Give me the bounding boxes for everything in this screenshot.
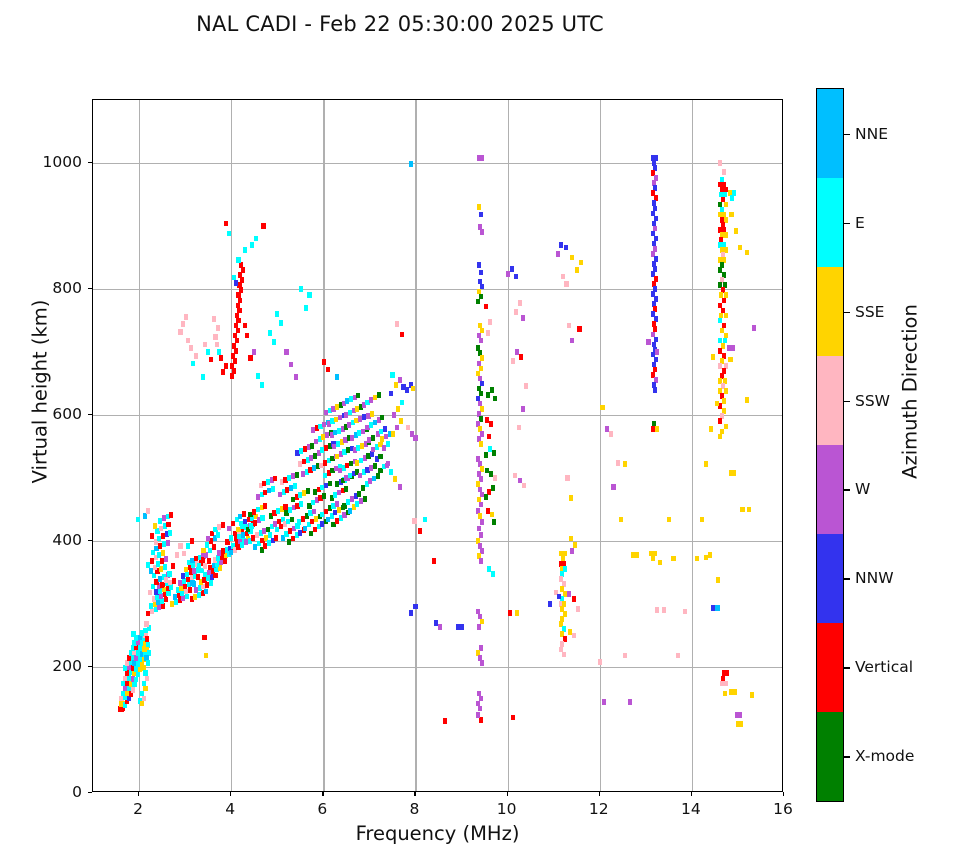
y-tick bbox=[88, 288, 92, 289]
echo-point bbox=[729, 212, 733, 218]
echo-point bbox=[227, 231, 231, 237]
echo-point bbox=[275, 311, 279, 317]
y-tick-label: 800 bbox=[22, 279, 82, 297]
echo-point bbox=[492, 450, 496, 456]
echo-point bbox=[243, 323, 247, 329]
colorbar-tick bbox=[844, 578, 850, 579]
x-tick bbox=[691, 792, 692, 796]
echo-point bbox=[252, 349, 256, 355]
echo-point bbox=[283, 504, 287, 510]
x-axis-label: Frequency (MHz) bbox=[92, 822, 783, 845]
x-tick-label: 2 bbox=[133, 800, 143, 818]
echo-point bbox=[651, 426, 655, 432]
echo-point bbox=[400, 332, 404, 338]
echo-point bbox=[479, 558, 483, 564]
echo-point bbox=[720, 681, 724, 687]
echo-point bbox=[569, 536, 573, 542]
colorbar-segment-nne bbox=[817, 89, 843, 178]
colorbar-label-ssw: SSW bbox=[855, 392, 890, 410]
x-tick bbox=[414, 792, 415, 796]
echo-point bbox=[168, 530, 172, 536]
colorbar-tick bbox=[844, 756, 850, 757]
echo-point bbox=[237, 308, 241, 314]
echo-point bbox=[658, 560, 662, 566]
y-tick bbox=[88, 666, 92, 667]
echo-point bbox=[209, 357, 213, 363]
echo-point bbox=[655, 426, 659, 432]
y-tick bbox=[88, 792, 92, 793]
echo-point bbox=[718, 160, 722, 166]
echo-point bbox=[363, 496, 367, 502]
echo-point bbox=[295, 472, 299, 478]
echo-point bbox=[655, 349, 659, 355]
echo-point bbox=[186, 338, 190, 344]
colorbar-tick bbox=[844, 667, 850, 668]
echo-point bbox=[722, 398, 726, 404]
echo-point bbox=[722, 169, 726, 175]
echo-point bbox=[724, 681, 728, 687]
echo-point bbox=[140, 701, 144, 707]
echo-point bbox=[518, 478, 522, 484]
echo-point bbox=[166, 540, 170, 546]
echo-point bbox=[722, 298, 726, 304]
echo-point bbox=[260, 382, 264, 388]
colorbar-label-x-mode: X-mode bbox=[855, 747, 914, 765]
echo-point bbox=[395, 425, 399, 431]
echo-point bbox=[146, 660, 150, 666]
echo-point bbox=[160, 582, 164, 588]
echo-point bbox=[734, 228, 738, 234]
echo-point bbox=[745, 250, 749, 256]
x-tick-label: 14 bbox=[681, 800, 701, 818]
echo-point bbox=[169, 512, 173, 518]
echo-point bbox=[256, 373, 260, 379]
echo-point bbox=[619, 517, 623, 523]
colorbar-label-nnw: NNW bbox=[855, 569, 894, 587]
echo-point bbox=[655, 607, 659, 613]
echo-point bbox=[711, 605, 715, 611]
echo-point bbox=[518, 300, 522, 306]
echo-point bbox=[432, 558, 436, 564]
echo-point bbox=[708, 552, 712, 558]
echo-point bbox=[477, 262, 481, 268]
echo-point bbox=[671, 556, 675, 562]
echo-point bbox=[389, 391, 393, 397]
x-tick bbox=[322, 792, 323, 796]
echo-point bbox=[488, 319, 492, 325]
x-tick-label: 4 bbox=[225, 800, 235, 818]
echo-point bbox=[235, 313, 239, 319]
colorbar-label-sse: SSE bbox=[855, 303, 884, 321]
echo-point bbox=[307, 292, 311, 298]
echo-point bbox=[570, 338, 574, 344]
echo-point bbox=[396, 406, 400, 412]
echo-point bbox=[479, 717, 483, 723]
echo-point bbox=[234, 348, 238, 354]
echo-point bbox=[548, 601, 552, 607]
y-tick-label: 600 bbox=[22, 405, 82, 423]
x-tick-label: 12 bbox=[589, 800, 609, 818]
echo-point bbox=[293, 483, 297, 489]
echo-point bbox=[163, 564, 167, 570]
echo-point bbox=[383, 426, 387, 432]
echo-point bbox=[399, 418, 403, 424]
colorbar-tick bbox=[844, 223, 850, 224]
plot-area bbox=[92, 99, 783, 792]
echo-point bbox=[725, 670, 729, 676]
echo-point bbox=[393, 476, 397, 482]
echo-point bbox=[514, 274, 518, 280]
echo-point bbox=[299, 286, 303, 292]
echo-point bbox=[196, 574, 200, 580]
x-tick-label: 6 bbox=[317, 800, 327, 818]
echo-point bbox=[487, 434, 491, 440]
echo-point bbox=[390, 372, 394, 378]
echo-point bbox=[212, 316, 216, 322]
echo-point bbox=[700, 517, 704, 523]
echo-point bbox=[206, 536, 210, 542]
x-tick-label: 16 bbox=[773, 800, 793, 818]
colorbar-label-vertical: Vertical bbox=[855, 658, 913, 676]
echo-point bbox=[506, 271, 510, 277]
echo-point bbox=[572, 633, 576, 639]
echo-point bbox=[480, 229, 484, 235]
echo-point bbox=[484, 304, 488, 310]
echo-point bbox=[723, 691, 727, 697]
echo-point bbox=[508, 610, 512, 616]
echo-point bbox=[391, 431, 395, 437]
echo-point bbox=[148, 590, 152, 596]
echo-point bbox=[400, 400, 404, 406]
x-tick bbox=[138, 792, 139, 796]
echo-point bbox=[357, 491, 361, 497]
echo-point bbox=[239, 262, 243, 268]
echo-point bbox=[370, 411, 374, 417]
echo-point bbox=[521, 406, 525, 412]
echo-point bbox=[395, 321, 399, 327]
echo-point bbox=[217, 349, 221, 355]
echo-point bbox=[434, 620, 438, 626]
echo-point bbox=[231, 353, 235, 359]
echo-point bbox=[492, 519, 496, 525]
echo-point bbox=[178, 329, 182, 335]
echo-point bbox=[479, 532, 483, 538]
echo-point bbox=[263, 503, 267, 509]
echo-point bbox=[194, 353, 198, 359]
echo-point bbox=[479, 441, 483, 447]
echo-point bbox=[312, 509, 316, 515]
echo-point bbox=[623, 461, 627, 467]
echo-point bbox=[484, 452, 488, 458]
echo-point bbox=[653, 387, 657, 393]
echo-point bbox=[207, 558, 211, 564]
echo-point bbox=[213, 334, 217, 340]
echo-point bbox=[279, 320, 283, 326]
ionogram-figure: NAL CADI - Feb 22 05:30:00 2025 UTC Freq… bbox=[0, 0, 958, 857]
echo-point bbox=[261, 223, 265, 229]
colorbar-label-w: W bbox=[855, 480, 870, 498]
echo-point bbox=[233, 333, 237, 339]
y-tick bbox=[88, 540, 92, 541]
echo-point bbox=[201, 374, 205, 380]
echo-point bbox=[478, 513, 482, 519]
echo-point bbox=[489, 421, 493, 427]
echo-point bbox=[480, 519, 484, 525]
y-tick-label: 0 bbox=[22, 783, 82, 801]
echo-point bbox=[234, 323, 238, 329]
echo-point bbox=[191, 361, 195, 367]
echo-point bbox=[413, 604, 417, 610]
echo-point bbox=[556, 251, 560, 257]
echo-point bbox=[412, 518, 416, 524]
echo-point bbox=[373, 463, 377, 469]
echo-point bbox=[201, 557, 205, 563]
echo-point bbox=[166, 590, 170, 596]
echo-point bbox=[289, 362, 293, 368]
echo-point bbox=[484, 494, 488, 500]
echo-point bbox=[167, 571, 171, 577]
echo-point bbox=[144, 621, 148, 627]
echo-point bbox=[724, 424, 728, 430]
echo-point bbox=[510, 266, 514, 272]
echo-point bbox=[564, 245, 568, 251]
echo-point bbox=[274, 535, 278, 541]
echo-point bbox=[240, 277, 244, 283]
echo-point bbox=[241, 267, 245, 273]
echo-point bbox=[491, 571, 495, 577]
echo-point bbox=[224, 363, 228, 369]
echo-point bbox=[212, 544, 216, 550]
echo-point bbox=[290, 517, 294, 523]
echo-point bbox=[175, 552, 179, 558]
echo-point bbox=[479, 502, 483, 508]
echo-point bbox=[514, 309, 518, 315]
echo-point bbox=[227, 526, 231, 532]
echo-point bbox=[254, 236, 258, 242]
echo-point bbox=[515, 349, 519, 355]
echo-point bbox=[724, 232, 728, 238]
echo-point bbox=[271, 486, 275, 492]
x-tick-label: 10 bbox=[497, 800, 517, 818]
echo-point bbox=[490, 512, 494, 518]
echo-point bbox=[522, 483, 526, 489]
echo-point bbox=[569, 495, 573, 501]
echo-point bbox=[328, 481, 332, 487]
echo-point bbox=[190, 538, 194, 544]
echo-point bbox=[738, 245, 742, 251]
echo-point bbox=[476, 712, 480, 718]
echo-point bbox=[224, 221, 228, 227]
echo-point bbox=[186, 543, 190, 549]
echo-point bbox=[611, 484, 615, 490]
echo-point bbox=[511, 358, 515, 364]
y-tick-label: 400 bbox=[22, 531, 82, 549]
x-tick bbox=[507, 792, 508, 796]
echo-point bbox=[236, 318, 240, 324]
echo-point bbox=[477, 526, 481, 532]
echo-point bbox=[676, 653, 680, 659]
echo-point bbox=[380, 415, 384, 421]
echo-point bbox=[219, 355, 223, 361]
echo-point bbox=[740, 507, 744, 513]
echo-point bbox=[609, 431, 613, 437]
echo-point bbox=[561, 274, 565, 280]
echo-point bbox=[438, 624, 442, 630]
echo-point bbox=[221, 369, 225, 375]
echo-point bbox=[715, 401, 719, 407]
echo-point bbox=[164, 556, 168, 562]
echo-point bbox=[747, 507, 751, 513]
echo-point bbox=[188, 587, 192, 593]
echo-point bbox=[146, 508, 150, 514]
echo-point bbox=[143, 513, 147, 519]
echo-point bbox=[131, 687, 135, 693]
echo-point bbox=[600, 405, 604, 411]
echo-point bbox=[521, 315, 525, 321]
echo-point bbox=[299, 501, 303, 507]
scatter-canvas bbox=[93, 100, 782, 791]
echo-point bbox=[131, 631, 135, 637]
echo-point bbox=[704, 555, 708, 561]
echo-point bbox=[575, 267, 579, 273]
echo-point bbox=[189, 345, 193, 351]
echo-point bbox=[716, 605, 720, 611]
echo-point bbox=[164, 577, 168, 583]
echo-point bbox=[731, 345, 735, 351]
echo-point bbox=[515, 610, 519, 616]
echo-point bbox=[602, 699, 606, 705]
echo-point bbox=[236, 328, 240, 334]
echo-point bbox=[248, 355, 252, 361]
y-tick-label: 1000 bbox=[22, 153, 82, 171]
echo-point bbox=[221, 522, 225, 528]
echo-point bbox=[704, 461, 708, 467]
echo-point bbox=[738, 712, 742, 718]
echo-point bbox=[206, 349, 210, 355]
echo-point bbox=[201, 548, 205, 554]
echo-point bbox=[724, 313, 728, 319]
echo-point bbox=[376, 473, 380, 479]
echo-point bbox=[238, 272, 242, 278]
echo-point bbox=[273, 476, 277, 482]
echo-point bbox=[385, 463, 389, 469]
echo-point bbox=[616, 460, 620, 466]
echo-point bbox=[409, 610, 413, 616]
echo-point bbox=[209, 580, 213, 586]
x-tick bbox=[599, 792, 600, 796]
echo-point bbox=[727, 345, 731, 351]
echo-point bbox=[326, 367, 330, 373]
echo-point bbox=[240, 524, 244, 530]
echo-point bbox=[294, 374, 298, 380]
echo-point bbox=[238, 298, 242, 304]
echo-point bbox=[204, 653, 208, 659]
echo-point bbox=[491, 485, 495, 491]
echo-point bbox=[236, 292, 240, 298]
echo-point bbox=[235, 338, 239, 344]
echo-point bbox=[573, 542, 577, 548]
echo-point bbox=[724, 388, 728, 394]
echo-point bbox=[577, 326, 581, 332]
echo-point bbox=[243, 247, 247, 253]
echo-point bbox=[567, 591, 571, 597]
colorbar-segment-ssw bbox=[817, 356, 843, 445]
echo-point bbox=[204, 589, 208, 595]
echo-point bbox=[216, 325, 220, 331]
colorbar-segment-nnw bbox=[817, 534, 843, 623]
echo-point bbox=[409, 161, 413, 167]
echo-point bbox=[479, 338, 483, 344]
y-axis-label: Virtual height (km) bbox=[29, 262, 52, 522]
echo-point bbox=[477, 204, 481, 210]
echo-point bbox=[284, 349, 288, 355]
echo-point bbox=[242, 511, 246, 517]
echo-point bbox=[250, 242, 254, 248]
echo-point bbox=[716, 577, 720, 583]
echo-point bbox=[459, 624, 463, 630]
echo-point bbox=[192, 581, 196, 587]
echo-point bbox=[570, 548, 574, 554]
y-tick-label: 200 bbox=[22, 657, 82, 675]
echo-point bbox=[493, 396, 497, 402]
echo-point bbox=[344, 486, 348, 492]
echo-point bbox=[260, 515, 264, 521]
echo-point bbox=[411, 386, 415, 392]
echo-point bbox=[750, 692, 754, 698]
echo-point bbox=[185, 594, 189, 600]
echo-point bbox=[565, 475, 569, 481]
echo-point bbox=[559, 242, 563, 248]
echo-point bbox=[732, 470, 736, 476]
echo-point bbox=[136, 517, 140, 523]
echo-point bbox=[161, 550, 165, 556]
echo-point bbox=[377, 392, 381, 398]
echo-point bbox=[576, 606, 580, 612]
echo-point bbox=[230, 373, 234, 379]
echo-point bbox=[202, 635, 206, 641]
echo-point bbox=[493, 475, 497, 481]
echo-point bbox=[134, 677, 138, 683]
echo-point bbox=[143, 686, 147, 692]
page-title: NAL CADI - Feb 22 05:30:00 2025 UTC bbox=[0, 12, 800, 36]
echo-point bbox=[733, 689, 737, 695]
echo-point bbox=[234, 280, 238, 286]
echo-point bbox=[150, 533, 154, 539]
echo-point bbox=[232, 368, 236, 374]
echo-point bbox=[406, 425, 410, 431]
echo-point bbox=[567, 323, 571, 329]
echo-point bbox=[239, 287, 243, 293]
echo-point bbox=[398, 484, 402, 490]
echo-point bbox=[182, 551, 186, 557]
echo-point bbox=[145, 676, 149, 682]
echo-point bbox=[216, 532, 220, 538]
echo-point bbox=[184, 314, 188, 320]
echo-point bbox=[389, 469, 393, 475]
colorbar-tick bbox=[844, 401, 850, 402]
echo-point bbox=[579, 260, 583, 266]
echo-point bbox=[745, 397, 749, 403]
echo-point bbox=[197, 563, 201, 569]
echo-point bbox=[203, 342, 207, 348]
x-tick-label: 8 bbox=[410, 800, 420, 818]
colorbar-segment-w bbox=[817, 445, 843, 534]
echo-point bbox=[570, 255, 574, 261]
echo-point bbox=[477, 624, 481, 630]
echo-point bbox=[237, 282, 241, 288]
echo-point bbox=[405, 387, 409, 393]
colorbar-segment-x-mode bbox=[817, 712, 843, 801]
